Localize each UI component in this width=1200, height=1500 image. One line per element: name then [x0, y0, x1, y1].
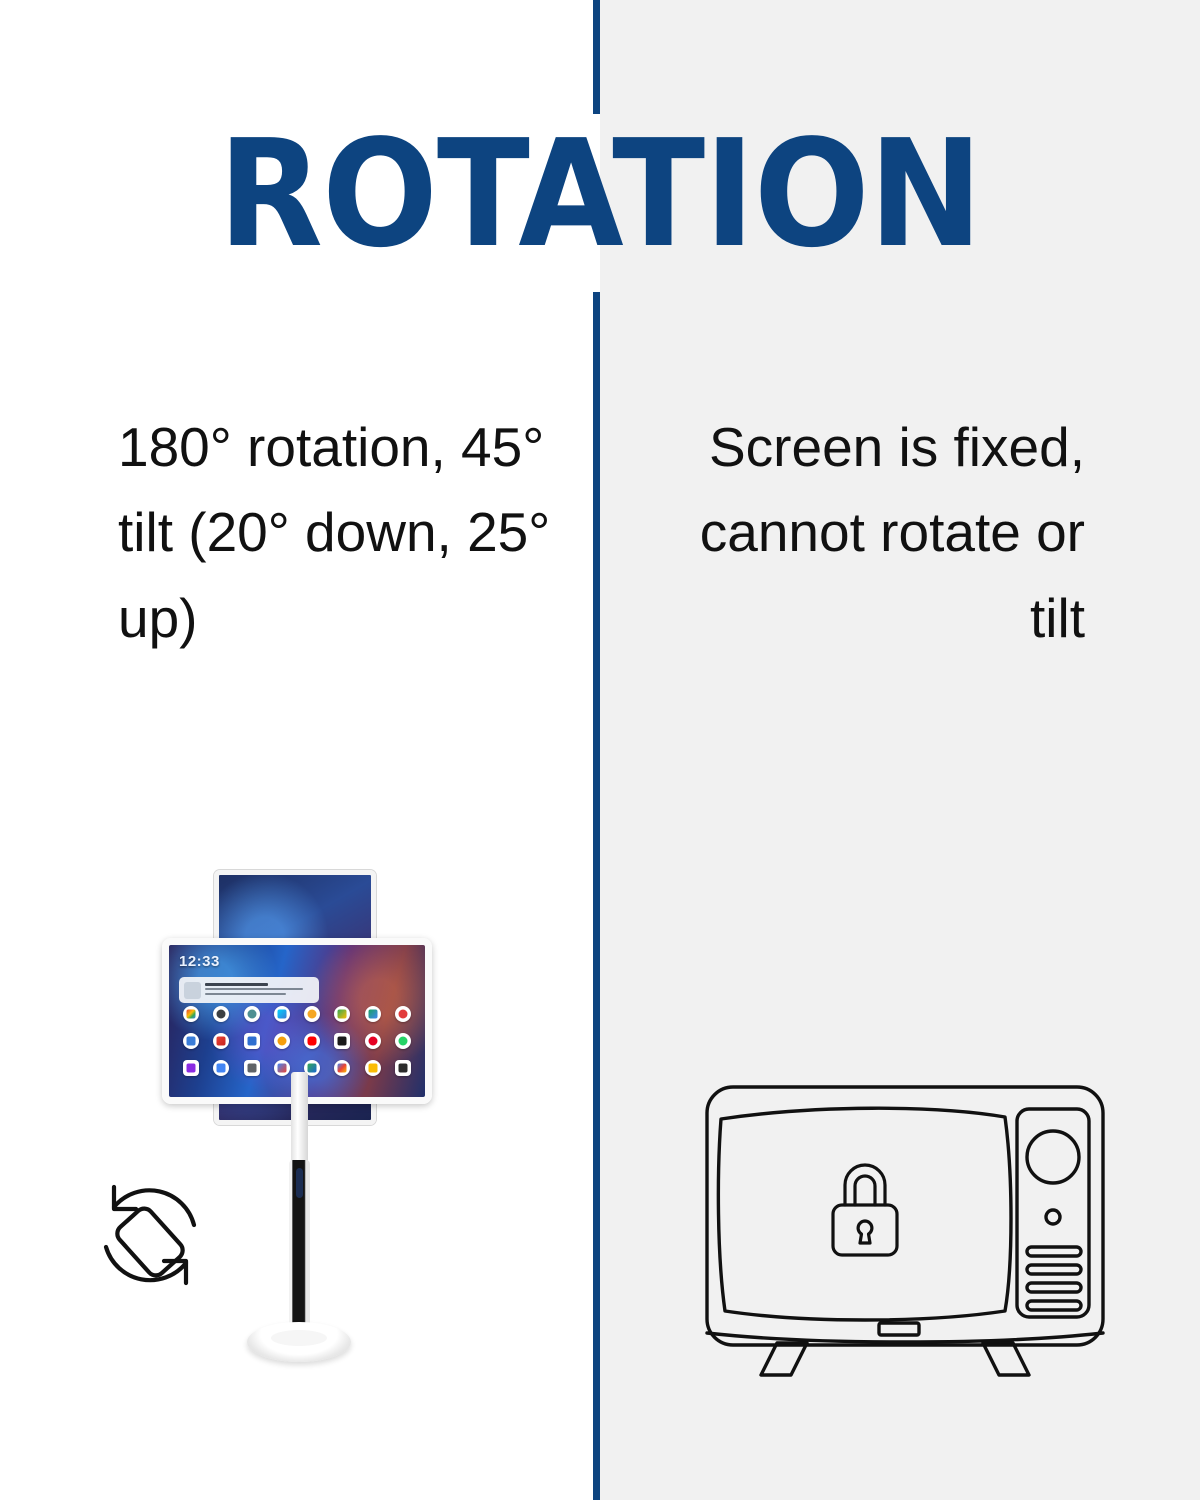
tv-speaker-slot [1027, 1265, 1081, 1274]
app-icon [365, 1006, 381, 1022]
tv-tuner-knob [1027, 1131, 1079, 1183]
tv-speaker-slot [1027, 1301, 1081, 1310]
notification-thumbnail [184, 982, 201, 999]
app-icon [395, 1006, 411, 1022]
vertical-divider-top-segment [593, 0, 600, 114]
app-icon [274, 1060, 290, 1076]
app-icon [334, 1006, 350, 1022]
retro-tv-svg [695, 1075, 1115, 1385]
app-icon [395, 1033, 411, 1049]
stand-upper-pole [291, 1072, 308, 1170]
app-icon [213, 1060, 229, 1076]
tv-body [707, 1087, 1103, 1345]
app-icon [365, 1033, 381, 1049]
app-icon [395, 1060, 411, 1076]
app-icon [183, 1006, 199, 1022]
product-photo-smart-screen-stand: 12:33 [150, 860, 450, 1400]
stand-lower-pole [289, 1160, 310, 1340]
left-panel-description: 180° rotation, 45° tilt (20° down, 25° u… [118, 405, 558, 661]
app-icon [304, 1006, 320, 1022]
tv-leg-right [983, 1343, 1029, 1375]
tv-badge-rectangle [879, 1323, 919, 1335]
app-icon [365, 1060, 381, 1076]
lock-keyhole [858, 1221, 872, 1243]
app-icon [244, 1060, 260, 1076]
app-icon [274, 1006, 290, 1022]
tv-leg-left [761, 1343, 807, 1375]
right-panel-description: Screen is fixed, cannot rotate or tilt [645, 405, 1085, 661]
tv-indicator-dot [1046, 1210, 1060, 1224]
rotate-device-icon-svg [90, 1175, 210, 1295]
lock-shackle-outer [845, 1165, 885, 1205]
app-icon [274, 1033, 290, 1049]
lock-icon [833, 1165, 897, 1255]
tv-speaker-slot [1027, 1247, 1081, 1256]
device-outline [114, 1205, 187, 1279]
tv-screen [718, 1108, 1011, 1320]
stand-base [247, 1322, 351, 1362]
app-icon [213, 1006, 229, 1022]
retro-television-illustration [695, 1075, 1115, 1385]
rotate-device-icon [90, 1175, 210, 1295]
clock-widget: 12:33 [179, 953, 220, 970]
vertical-divider-bottom-segment [593, 292, 600, 1500]
app-icon [304, 1033, 320, 1049]
app-icon [213, 1033, 229, 1049]
page-title: ROTATION [48, 120, 1152, 268]
app-icon [244, 1033, 260, 1049]
notification-card [179, 977, 319, 1003]
notification-text-lines [205, 983, 314, 998]
app-icon [334, 1060, 350, 1076]
lock-body [833, 1205, 897, 1255]
app-icon [244, 1006, 260, 1022]
infographic-page: ROTATION 180° rotation, 45° tilt (20° do… [0, 0, 1200, 1500]
app-icon [183, 1033, 199, 1049]
app-icon [334, 1033, 350, 1049]
lock-shackle-inner [855, 1176, 875, 1205]
app-icon [183, 1060, 199, 1076]
tv-speaker-slot [1027, 1283, 1081, 1292]
